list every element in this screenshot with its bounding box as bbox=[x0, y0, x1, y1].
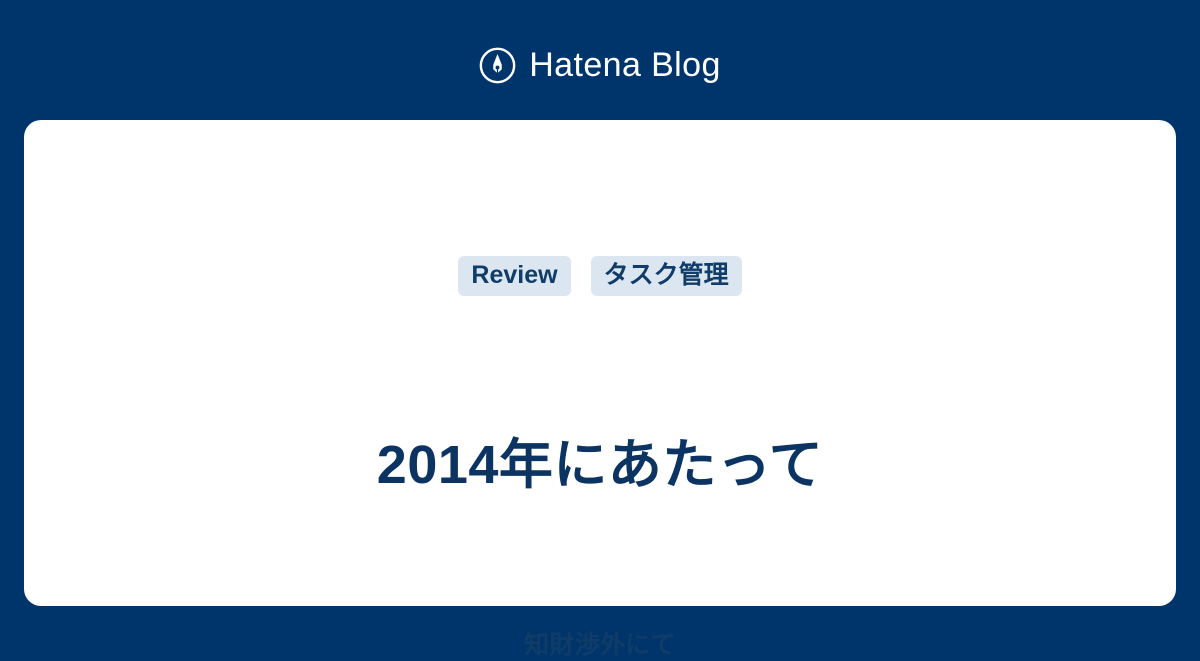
hatena-blog-brand: Hatena Blog bbox=[0, 41, 1200, 89]
og-image-canvas: Hatena Blog Review タスク管理 2014年にあたって 知財渉外… bbox=[0, 0, 1200, 630]
tag-list: Review タスク管理 bbox=[24, 256, 1176, 296]
tag-item[interactable]: タスク管理 bbox=[591, 256, 742, 296]
entry-card: Review タスク管理 2014年にあたって 知財渉外にて bbox=[24, 120, 1176, 606]
blog-name: 知財渉外にて bbox=[24, 629, 1176, 661]
brand-name: Hatena Blog bbox=[529, 47, 721, 84]
entry-title: 2014年にあたって bbox=[24, 431, 1176, 499]
tag-item[interactable]: Review bbox=[458, 256, 570, 296]
hatena-pen-nib-icon bbox=[479, 47, 516, 84]
